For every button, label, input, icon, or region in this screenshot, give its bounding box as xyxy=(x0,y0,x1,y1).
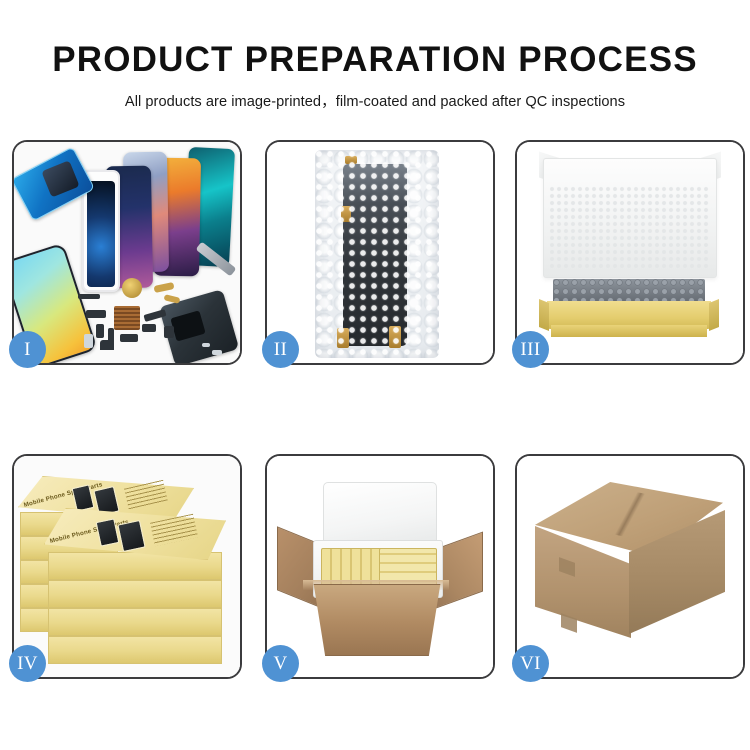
page-subtitle: All products are image-printed，film-coat… xyxy=(0,79,750,111)
component-strip xyxy=(78,294,100,299)
component-screw xyxy=(212,350,222,355)
open-foam-lined-box-image xyxy=(517,142,743,363)
carton-front-panel xyxy=(305,584,449,656)
phone-parts-collage-image xyxy=(14,142,240,363)
component-logic-chip xyxy=(114,306,140,330)
component-sim-tray xyxy=(164,326,174,338)
sealed-shipping-carton-image xyxy=(517,456,743,677)
bubble-wrap-bag xyxy=(315,150,439,358)
component-bracket xyxy=(96,324,104,338)
process-step-grid: I II xyxy=(12,140,738,678)
foam-texture xyxy=(549,186,709,270)
process-step-card-2[interactable]: II xyxy=(265,140,495,365)
component-camera xyxy=(100,340,114,350)
step-badge-3: III xyxy=(512,331,549,368)
page-title: PRODUCT PREPARATION PROCESS xyxy=(0,0,750,79)
stacked-spare-parts-boxes-image: Mobile Phone Spare Parts Mobile Phone Sp… xyxy=(14,456,240,677)
step-badge-2: II xyxy=(262,331,299,368)
yellow-box-base xyxy=(551,325,707,337)
component-connector xyxy=(86,310,106,318)
component-speaker-ring xyxy=(122,278,142,298)
component-screw-2 xyxy=(202,343,210,347)
bubble-texture xyxy=(315,150,439,358)
carton-with-foam-box-image xyxy=(267,456,493,677)
component-module xyxy=(120,334,138,342)
process-step-card-1[interactable]: I xyxy=(12,140,242,365)
page-header: PRODUCT PREPARATION PROCESS All products… xyxy=(0,0,750,130)
step-badge-4: IV xyxy=(9,645,46,682)
foam-box-lid xyxy=(323,482,437,546)
box-body-r4 xyxy=(48,636,222,664)
step-badge-6: VI xyxy=(512,645,549,682)
process-step-card-6[interactable]: VI xyxy=(515,454,745,679)
process-step-card-3[interactable]: III xyxy=(515,140,745,365)
process-step-card-5[interactable]: V xyxy=(265,454,495,679)
process-step-card-4[interactable]: Mobile Phone Spare Parts Mobile Phone Sp… xyxy=(12,454,242,679)
box-body-r2 xyxy=(48,580,222,608)
step-badge-5: V xyxy=(262,645,299,682)
box-body-r3 xyxy=(48,608,222,636)
component-shield xyxy=(142,324,156,332)
step-badge-1: I xyxy=(9,331,46,368)
bubble-wrapped-part-image xyxy=(267,142,493,363)
component-battery xyxy=(84,334,93,348)
component-flex-cable xyxy=(153,282,174,293)
